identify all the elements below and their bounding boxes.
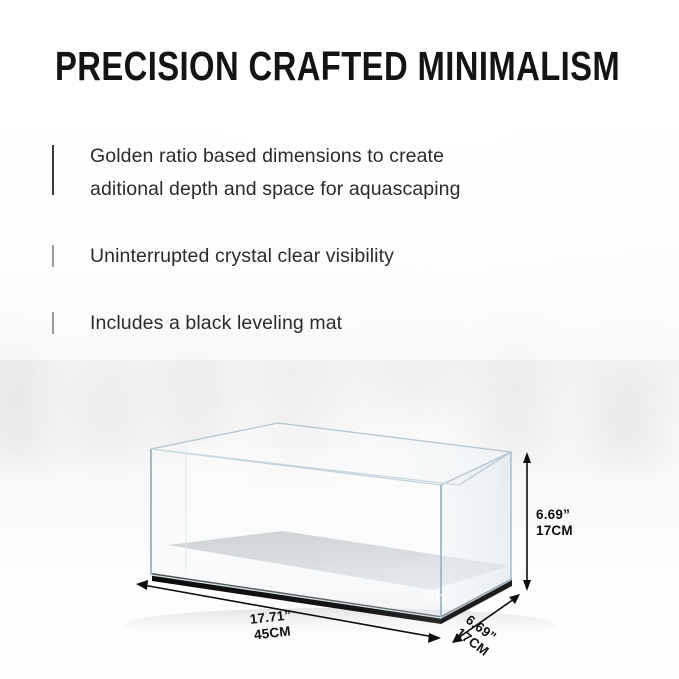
brand-logo: un — [425, 588, 445, 607]
product-illustration: un — [0, 0, 679, 679]
dimension-label-height: 6.69” 17CM — [536, 507, 573, 538]
dimension-label-width: 17.71” 45CM — [249, 607, 294, 643]
product-feature-image: PRECISION CRAFTED MINIMALISM Golden rati… — [0, 0, 679, 679]
dimension-height-inches: 6.69” — [536, 507, 573, 523]
dimension-height-cm: 17CM — [536, 523, 573, 539]
dimension-arrow-height — [523, 452, 531, 591]
